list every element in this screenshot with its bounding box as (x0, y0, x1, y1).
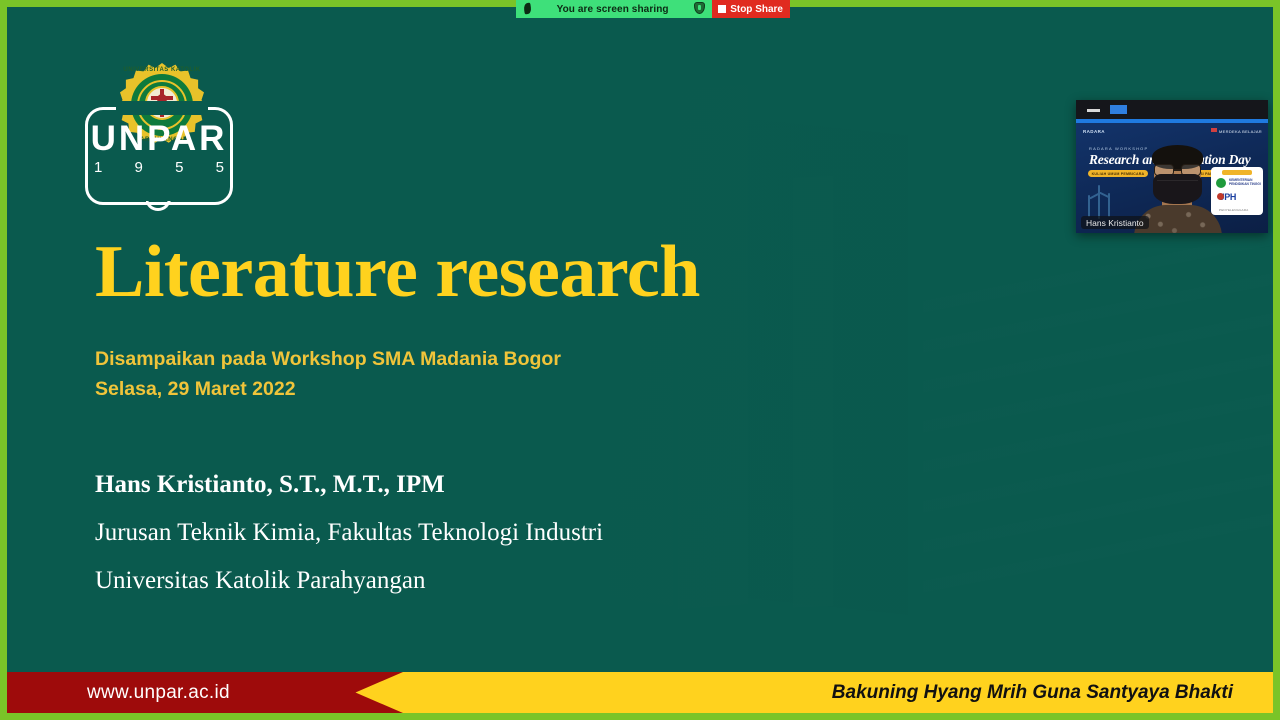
event-brand-right-label: MERDEKA BELAJAR (1219, 129, 1262, 134)
coral-decoration-icon (1084, 185, 1116, 219)
author-name: Hans Kristianto, S.T., M.T., IPM (95, 461, 603, 509)
stop-share-button[interactable]: Stop Share (712, 0, 790, 18)
author-department: Jurusan Teknik Kimia, Fakultas Teknologi… (95, 509, 603, 557)
video-top-strip (1076, 119, 1268, 123)
event-brand-right: MERDEKA BELAJAR (1211, 128, 1262, 134)
logo-year: 1 9 5 5 (94, 159, 224, 176)
webcam-overlay-panel[interactable]: RADARA MERDEKA BELAJAR RADARA WORKSHOP R… (1076, 100, 1268, 233)
logo-year-digit-4: 5 (216, 159, 224, 176)
subtitle-line-2: Selasa, 29 Maret 2022 (95, 374, 561, 404)
minimize-icon[interactable] (1087, 109, 1100, 112)
crest-top-text: UNIVERSITAS KATOLIK (120, 67, 204, 73)
participant-name-text: Hans Kristianto (1086, 218, 1144, 228)
participant-name-label: Hans Kristianto (1081, 216, 1149, 229)
logo-year-digit-2: 9 (135, 159, 143, 176)
sponsor-line-1: KEMENTERIAN PENDIDIKAN TINGGI (1229, 178, 1263, 187)
logo-year-digit-3: 5 (175, 159, 183, 176)
face-mask-icon (1153, 174, 1202, 204)
sponsor-header-bar (1222, 170, 1252, 175)
author-block: Hans Kristianto, S.T., M.T., IPM Jurusan… (95, 461, 603, 605)
brand-square-icon (1211, 128, 1217, 132)
author-university: Universitas Katolik Parahyangan (95, 557, 603, 605)
webcam-window-titlebar (1076, 100, 1268, 119)
footer-motto: Bakuning Hyang Mrih Guna Santyaya Bhakti (832, 682, 1233, 704)
slide-title: Literature research (95, 235, 700, 309)
logo-year-digit-1: 1 (94, 159, 102, 176)
webcam-video-stage: RADARA MERDEKA BELAJAR RADARA WORKSHOP R… (1076, 119, 1268, 233)
logo-tab-shape (146, 201, 172, 215)
shield-icon[interactable] (692, 1, 708, 17)
presentation-slide: UNIVERSITAS KATOLIK PARAHYANGAN UNPAR 1 … (7, 7, 1273, 713)
event-brand-left: RADARA (1083, 129, 1105, 134)
slide-subtitle: Disampaikan pada Workshop SMA Madania Bo… (95, 344, 561, 405)
logo-wordmark: UNPAR (85, 119, 233, 159)
screen-share-icon (523, 3, 533, 15)
stop-square-icon (718, 5, 726, 13)
logo-notch-mask (116, 101, 208, 115)
footer-url: www.unpar.ac.id (87, 682, 230, 704)
share-status-segment: You are screen sharing (516, 0, 712, 18)
slide-footer: www.unpar.ac.id Bakuning Hyang Mrih Guna… (7, 672, 1273, 713)
active-tab-indicator[interactable] (1110, 105, 1127, 114)
subtitle-line-1: Disampaikan pada Workshop SMA Madania Bo… (95, 344, 561, 374)
share-status-text: You are screen sharing (533, 4, 692, 15)
unpar-logo: UNIVERSITAS KATOLIK PARAHYANGAN UNPAR 1 … (80, 63, 248, 223)
screen-share-toolbar[interactable]: You are screen sharing Stop Share (516, 0, 790, 18)
stop-share-label: Stop Share (730, 4, 783, 15)
